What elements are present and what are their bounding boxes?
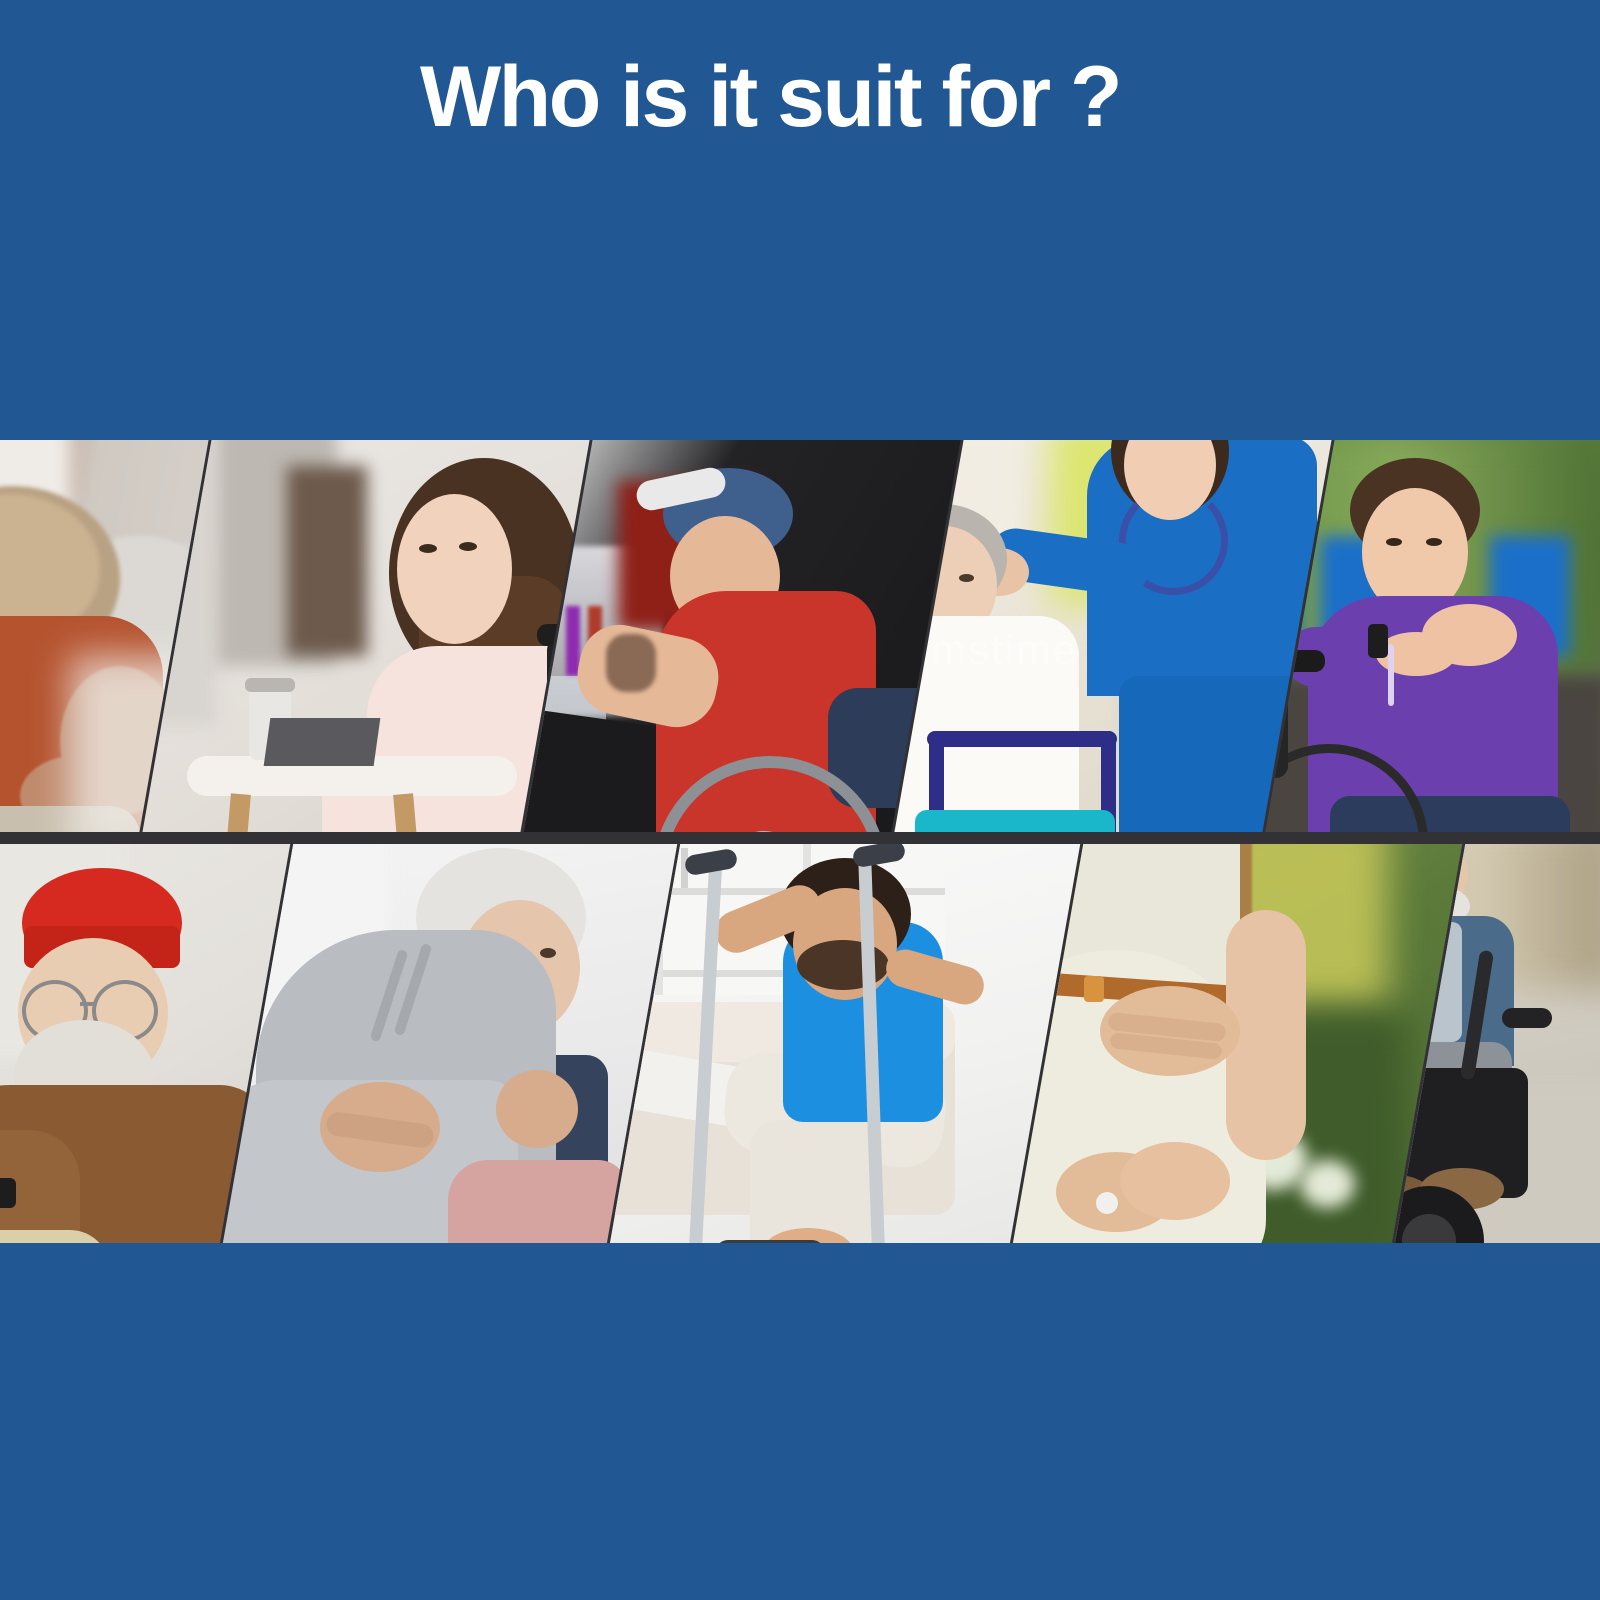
page-title: Who is it suit for ?	[0, 52, 1540, 142]
photo-collage: dreamstime	[0, 440, 1600, 1243]
collage-row-divider	[0, 832, 1600, 844]
collage-row-2	[0, 844, 1600, 1243]
footer-background	[0, 1243, 1600, 1600]
collage-row-1: dreamstime	[0, 440, 1600, 832]
hero-banner: Who is it suit for ?	[0, 0, 1600, 440]
